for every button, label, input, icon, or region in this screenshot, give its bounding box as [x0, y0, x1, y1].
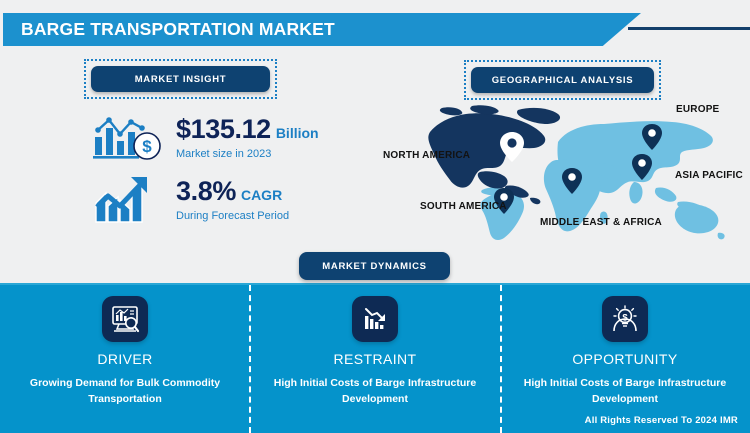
page-title: BARGE TRANSPORTATION MARKET: [21, 13, 335, 46]
cagr-caption: During Forecast Period: [176, 210, 289, 222]
opportunity-title: OPPORTUNITY: [572, 351, 677, 367]
market-size-caption: Market size in 2023: [176, 148, 319, 160]
restraint-description: High Initial Costs of Barge Infrastructu…: [266, 375, 484, 408]
stat-cagr-text: 3.8% CAGR During Forecast Period: [176, 176, 289, 222]
header-rule: [628, 27, 750, 30]
restraint-title: RESTRAINT: [334, 351, 417, 367]
svg-text:$: $: [622, 313, 628, 324]
band-top-highlight: [0, 283, 750, 285]
stat-market-size-text: $135.12 Billion Market size in 2023: [176, 114, 319, 160]
map-label-north-america: NORTH AMERICA: [383, 150, 470, 161]
svg-text:$: $: [142, 137, 152, 156]
market-dynamics-column-opportunity: $ OPPORTUNITY High Initial Costs of Barg…: [500, 296, 750, 408]
market-dynamics-heading-label: MARKET DYNAMICS: [322, 261, 426, 272]
monitor-analysis-icon: [102, 296, 148, 342]
cagr-unit: CAGR: [241, 187, 282, 203]
driver-title: DRIVER: [97, 351, 152, 367]
cagr-value: 3.8%: [176, 176, 236, 207]
bar-chart-dollar-icon: $: [92, 108, 170, 166]
declining-chart-icon: [352, 296, 398, 342]
market-insight-heading-frame: MARKET INSIGHT: [84, 59, 277, 99]
market-size-unit: Billion: [276, 125, 319, 141]
growth-arrow-icon: [92, 170, 170, 228]
world-map: NORTH AMERICA SOUTH AMERICA EUROPE ASIA …: [400, 100, 750, 250]
map-label-middle-east-africa: MIDDLE EAST & AFRICA: [540, 217, 662, 228]
market-insight-heading-pill: MARKET INSIGHT: [91, 66, 270, 92]
geographical-analysis-heading-label: GEOGRAPHICAL ANALYSIS: [492, 75, 634, 86]
market-dynamics-heading-pill: MARKET DYNAMICS: [299, 252, 450, 280]
footer-copyright: All Rights Reserved To 2024 IMR: [585, 415, 738, 426]
market-insight-heading-label: MARKET INSIGHT: [135, 74, 227, 85]
header-bar: BARGE TRANSPORTATION MARKET: [3, 13, 641, 46]
geographical-analysis-heading-pill: GEOGRAPHICAL ANALYSIS: [471, 67, 654, 93]
geographical-analysis-heading-frame: GEOGRAPHICAL ANALYSIS: [464, 60, 661, 100]
stat-market-size: $ $135.12 Billion Market size in 2023: [92, 108, 319, 166]
lightbulb-dollar-icon: $: [602, 296, 648, 342]
driver-description: Growing Demand for Bulk Commodity Transp…: [16, 375, 234, 408]
market-dynamics-column-restraint: RESTRAINT High Initial Costs of Barge In…: [250, 296, 500, 408]
map-label-europe: EUROPE: [676, 104, 719, 115]
opportunity-description: High Initial Costs of Barge Infrastructu…: [516, 375, 734, 408]
map-label-asia-pacific: ASIA PACIFIC: [675, 170, 743, 181]
market-size-value: $135.12: [176, 114, 271, 145]
market-dynamics-column-driver: DRIVER Growing Demand for Bulk Commodity…: [0, 296, 250, 408]
stat-cagr: 3.8% CAGR During Forecast Period: [92, 170, 289, 228]
map-label-south-america: SOUTH AMERICA: [420, 201, 507, 212]
